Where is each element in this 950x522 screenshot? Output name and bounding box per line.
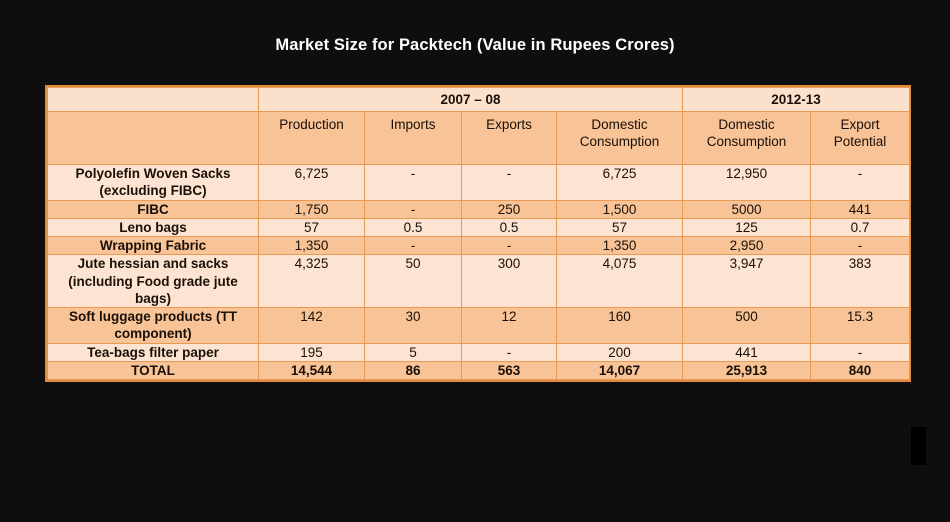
cell-production: 57	[259, 218, 365, 236]
page-title: Market Size for Packtech (Value in Rupee…	[0, 36, 950, 55]
cell-production: 4,325	[259, 255, 365, 308]
corner-blank-cell-2	[48, 112, 259, 165]
table-total-row: TOTAL 14,544 86 563 14,067 25,913 840	[48, 361, 910, 379]
row-label-polyolefin-woven-sacks: Polyolefin Woven Sacks (excluding FIBC)	[48, 165, 259, 201]
group-header-2007-08: 2007 – 08	[259, 88, 683, 112]
table-head: 2007 – 08 2012-13 Production Imports Exp…	[48, 88, 910, 165]
cell-export-potential: -	[811, 343, 910, 361]
cell-exports: -	[462, 165, 557, 201]
row-label-soft-luggage-products: Soft luggage products (TT component)	[48, 308, 259, 344]
column-header-domestic-consumption-2012: Domestic Consumption	[683, 112, 811, 165]
cell-imports: -	[365, 237, 462, 255]
table-row: FIBC 1,750 - 250 1,500 5000 441	[48, 200, 910, 218]
market-size-table-container: 2007 – 08 2012-13 Production Imports Exp…	[45, 85, 911, 382]
right-edge-notch	[911, 427, 926, 465]
cell-exports: 250	[462, 200, 557, 218]
column-header-exports: Exports	[462, 112, 557, 165]
cell-export-potential: 441	[811, 200, 910, 218]
cell-domestic-consumption-2012: 500	[683, 308, 811, 344]
row-label-tea-bags-filter-paper: Tea-bags filter paper	[48, 343, 259, 361]
table-row: Soft luggage products (TT component) 142…	[48, 308, 910, 344]
cell-export-potential: 15.3	[811, 308, 910, 344]
total-cell-export-potential: 840	[811, 361, 910, 379]
cell-exports: 0.5	[462, 218, 557, 236]
table-group-header-row: 2007 – 08 2012-13	[48, 88, 910, 112]
cell-domestic-consumption-2012: 5000	[683, 200, 811, 218]
cell-imports: 30	[365, 308, 462, 344]
cell-domestic-consumption-2012: 441	[683, 343, 811, 361]
table-row: Leno bags 57 0.5 0.5 57 125 0.7	[48, 218, 910, 236]
table-body: Polyolefin Woven Sacks (excluding FIBC) …	[48, 165, 910, 380]
cell-domestic-consumption-2007: 1,350	[557, 237, 683, 255]
corner-blank-cell	[48, 88, 259, 112]
cell-domestic-consumption-2007: 160	[557, 308, 683, 344]
cell-domestic-consumption-2012: 2,950	[683, 237, 811, 255]
cell-export-potential: 0.7	[811, 218, 910, 236]
cell-imports: 5	[365, 343, 462, 361]
row-label-wrapping-fabric: Wrapping Fabric	[48, 237, 259, 255]
cell-domestic-consumption-2012: 125	[683, 218, 811, 236]
cell-imports: -	[365, 200, 462, 218]
slide-canvas: Market Size for Packtech (Value in Rupee…	[0, 0, 950, 522]
cell-exports: -	[462, 237, 557, 255]
cell-imports: 50	[365, 255, 462, 308]
cell-domestic-consumption-2007: 200	[557, 343, 683, 361]
cell-export-potential: -	[811, 237, 910, 255]
total-cell-domestic-consumption-2007: 14,067	[557, 361, 683, 379]
row-label-fibc: FIBC	[48, 200, 259, 218]
cell-domestic-consumption-2007: 6,725	[557, 165, 683, 201]
group-header-2012-13: 2012-13	[683, 88, 910, 112]
row-label-total: TOTAL	[48, 361, 259, 379]
column-header-production: Production	[259, 112, 365, 165]
column-header-imports: Imports	[365, 112, 462, 165]
table-row: Polyolefin Woven Sacks (excluding FIBC) …	[48, 165, 910, 201]
cell-exports: 300	[462, 255, 557, 308]
column-header-domestic-consumption-2007: Domestic Consumption	[557, 112, 683, 165]
column-header-export-potential: Export Potential	[811, 112, 910, 165]
total-cell-exports: 563	[462, 361, 557, 379]
cell-export-potential: -	[811, 165, 910, 201]
total-cell-domestic-consumption-2012: 25,913	[683, 361, 811, 379]
cell-exports: 12	[462, 308, 557, 344]
cell-production: 142	[259, 308, 365, 344]
cell-export-potential: 383	[811, 255, 910, 308]
table-column-header-row: Production Imports Exports Domestic Cons…	[48, 112, 910, 165]
table-row: Tea-bags filter paper 195 5 - 200 441 -	[48, 343, 910, 361]
cell-production: 6,725	[259, 165, 365, 201]
cell-domestic-consumption-2007: 4,075	[557, 255, 683, 308]
cell-production: 1,750	[259, 200, 365, 218]
total-cell-imports: 86	[365, 361, 462, 379]
cell-production: 1,350	[259, 237, 365, 255]
cell-domestic-consumption-2007: 57	[557, 218, 683, 236]
table-row: Wrapping Fabric 1,350 - - 1,350 2,950 -	[48, 237, 910, 255]
cell-production: 195	[259, 343, 365, 361]
row-label-jute-hessian-and-sacks: Jute hessian and sacks (including Food g…	[48, 255, 259, 308]
row-label-leno-bags: Leno bags	[48, 218, 259, 236]
total-cell-production: 14,544	[259, 361, 365, 379]
cell-domestic-consumption-2012: 12,950	[683, 165, 811, 201]
market-size-table: 2007 – 08 2012-13 Production Imports Exp…	[47, 87, 910, 380]
cell-imports: 0.5	[365, 218, 462, 236]
cell-domestic-consumption-2012: 3,947	[683, 255, 811, 308]
table-row: Jute hessian and sacks (including Food g…	[48, 255, 910, 308]
cell-exports: -	[462, 343, 557, 361]
cell-imports: -	[365, 165, 462, 201]
cell-domestic-consumption-2007: 1,500	[557, 200, 683, 218]
